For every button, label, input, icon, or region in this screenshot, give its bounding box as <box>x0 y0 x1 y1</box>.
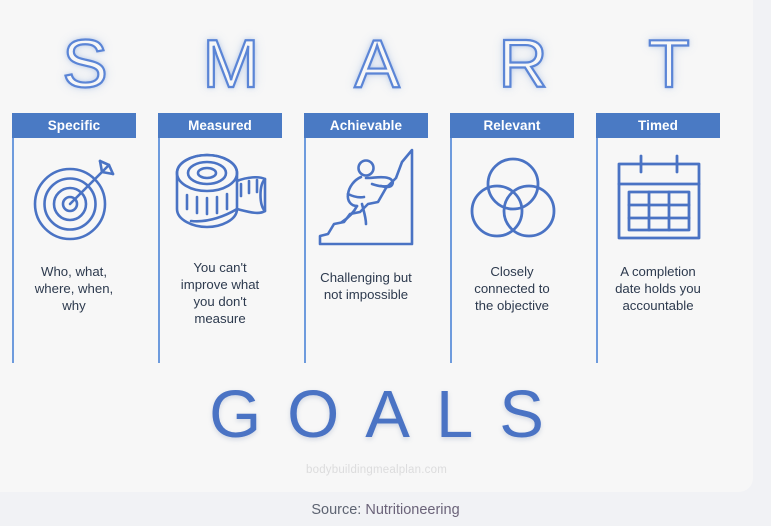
column-specific: Specific Who, what, where, when, why <box>12 113 158 363</box>
column-description-timed: A completion date holds you accountable <box>598 250 720 315</box>
acronym-letter-r: R <box>450 22 596 106</box>
goals-word: GOALS <box>0 381 753 448</box>
column-header-timed: Timed <box>596 113 720 138</box>
acronym-letter-s: S <box>12 22 158 106</box>
column-measured: Measured <box>158 113 304 363</box>
smart-columns: Specific Who, what, where, when, why <box>12 113 742 363</box>
column-relevant: Relevant Closely connected to the object… <box>450 113 596 363</box>
column-timed: Timed <box>596 113 742 363</box>
mountain-climber-icon <box>306 138 428 250</box>
infographic-root: S M A R T Specific <box>0 0 771 526</box>
measuring-tape-icon <box>160 138 282 250</box>
acronym-letter-t: T <box>596 22 742 106</box>
column-achievable: Achievable <box>304 113 450 363</box>
column-header-achievable: Achievable <box>304 113 428 138</box>
target-arrow-icon <box>14 138 136 250</box>
column-header-measured: Measured <box>158 113 282 138</box>
smart-acronym-row: S M A R T <box>12 22 742 106</box>
source-caption: Source: Nutritioneering <box>0 502 771 518</box>
smart-goals-card: S M A R T Specific <box>0 0 753 492</box>
column-header-relevant: Relevant <box>450 113 574 138</box>
acronym-letter-a: A <box>304 22 450 106</box>
calendar-icon <box>598 138 720 250</box>
column-description-relevant: Closely connected to the objective <box>452 250 574 315</box>
acronym-letter-m: M <box>158 22 304 106</box>
source-label: Source: <box>311 502 361 518</box>
column-description-specific: Who, what, where, when, why <box>14 250 136 315</box>
source-name: Nutritioneering <box>365 502 459 518</box>
watermark: bodybuildingmealplan.com <box>0 464 753 476</box>
column-header-specific: Specific <box>12 113 136 138</box>
column-description-measured: You can't improve what you don't measure <box>160 250 282 328</box>
column-description-achievable: Challenging but not impossible <box>306 250 428 304</box>
venn-diagram-icon <box>452 138 574 250</box>
